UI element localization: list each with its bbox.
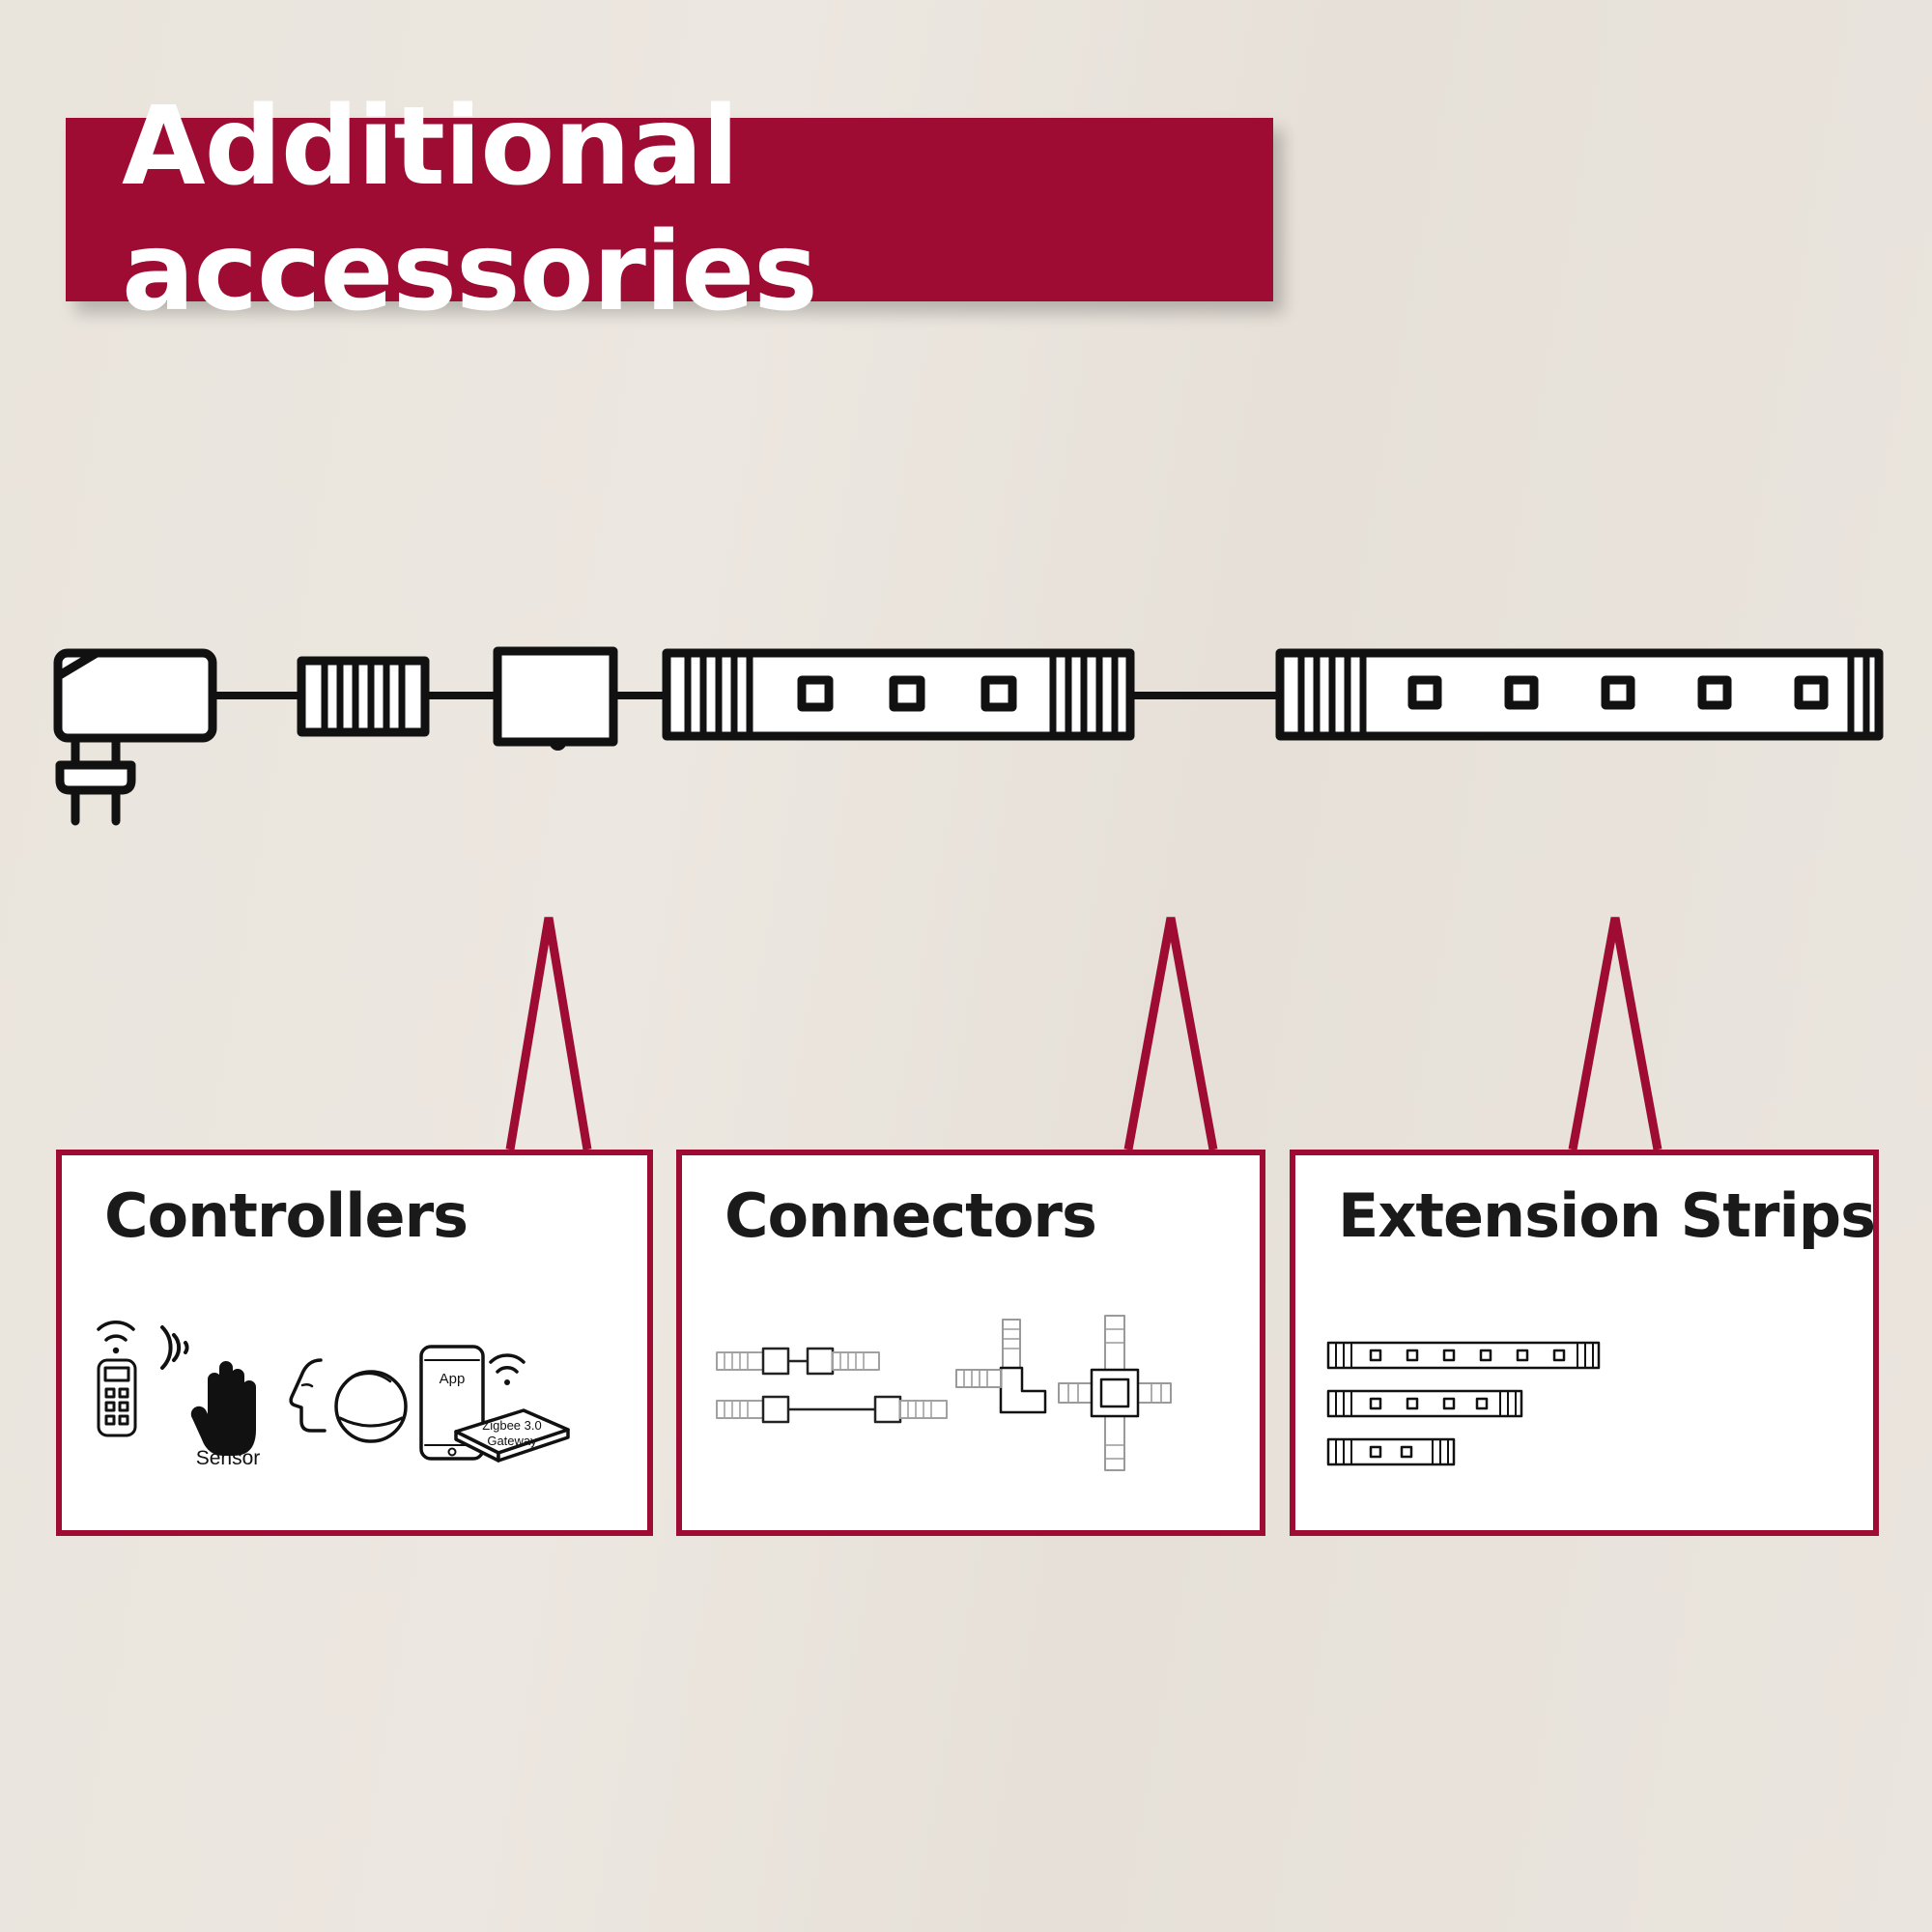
callout-title-extension: Extension Strips — [1338, 1180, 1875, 1251]
extension-icons-svg — [1295, 1310, 1885, 1532]
voice-control-icon — [291, 1360, 406, 1441]
wireless-controller-box — [497, 651, 613, 742]
connectors-icon-row — [682, 1310, 1260, 1532]
page-title: Additional accessories — [122, 84, 1273, 335]
pointer-controllers — [510, 918, 587, 1150]
title-banner: Additional accessories — [66, 118, 1273, 301]
controllers-icons-svg: Sensor — [62, 1310, 659, 1532]
power-supply-icon — [58, 653, 213, 821]
callout-title-connectors: Connectors — [724, 1180, 1096, 1251]
pointer-extension — [1573, 918, 1658, 1150]
extension-strip-long-icon — [1328, 1343, 1599, 1368]
cross-connector-icon — [1059, 1316, 1171, 1470]
callout-connectors[interactable]: Connectors — [676, 1150, 1265, 1536]
phone-wifi-icon — [491, 1355, 524, 1385]
led-strip-segment-2 — [1280, 653, 1879, 736]
app-label: App — [440, 1371, 466, 1387]
callout-boxes: Controllers — [0, 1140, 1932, 1584]
extension-icon-row — [1295, 1310, 1873, 1532]
controllers-icon-row: Sensor — [62, 1310, 647, 1532]
callout-extension-strips[interactable]: Extension Strips — [1290, 1150, 1879, 1536]
straight-connector-icon — [717, 1349, 947, 1422]
motion-sensor-hand-icon — [162, 1327, 255, 1455]
smart-speaker-icon — [336, 1372, 406, 1441]
connectors-icons-svg — [682, 1310, 1271, 1532]
gateway-label-line2: Gateway — [487, 1434, 537, 1448]
extension-strip-medium-icon — [1328, 1391, 1521, 1416]
remote-control-icon — [99, 1322, 135, 1435]
system-chain-diagram — [0, 618, 1932, 947]
pointer-arrows — [0, 908, 1932, 1159]
chain-svg — [0, 618, 1932, 947]
extension-strip-short-icon — [1328, 1439, 1454, 1464]
sensor-label: Sensor — [196, 1447, 261, 1469]
corner-connector-icon — [956, 1320, 1045, 1412]
led-strip-segment-1 — [667, 653, 1130, 736]
cable-connector-1 — [301, 661, 425, 732]
gateway-label-line1: Zigbee 3.0 — [482, 1418, 541, 1433]
callout-controllers[interactable]: Controllers — [56, 1150, 653, 1536]
poster-root: Additional accessories — [0, 0, 1932, 1932]
callout-title-controllers: Controllers — [104, 1180, 468, 1251]
pointer-connectors — [1128, 918, 1213, 1150]
